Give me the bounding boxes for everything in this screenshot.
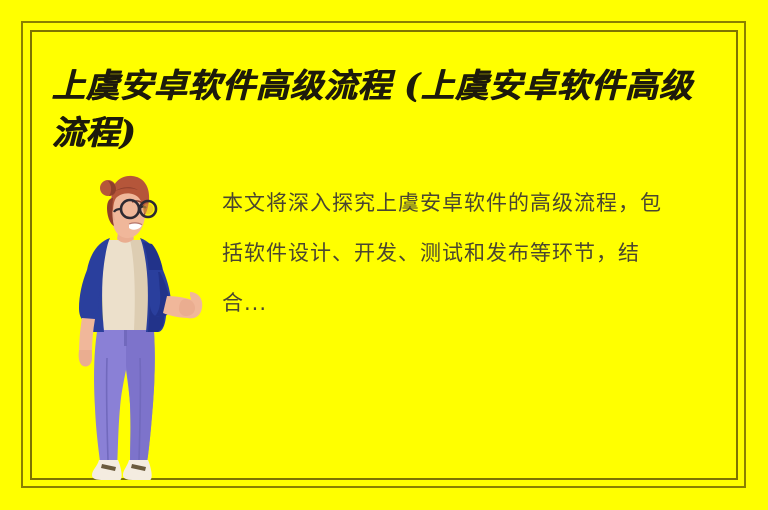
article-summary: 本文将深入探究上虞安卓软件的高级流程，包括软件设计、开发、测试和发布等环节，结合… xyxy=(222,178,662,328)
article-card: 上虞安卓软件高级流程 (上虞安卓软件高级流程) 本文将深入探究上虞安卓软件的高级… xyxy=(0,0,768,510)
trousers-shape xyxy=(94,320,155,468)
left-arm-shape xyxy=(79,318,95,367)
shoes-shape xyxy=(92,460,152,480)
shirt-shape xyxy=(102,234,150,330)
page-title: 上虞安卓软件高级流程 (上虞安卓软件高级流程) xyxy=(52,62,718,156)
standing-person-illustration xyxy=(60,168,210,483)
